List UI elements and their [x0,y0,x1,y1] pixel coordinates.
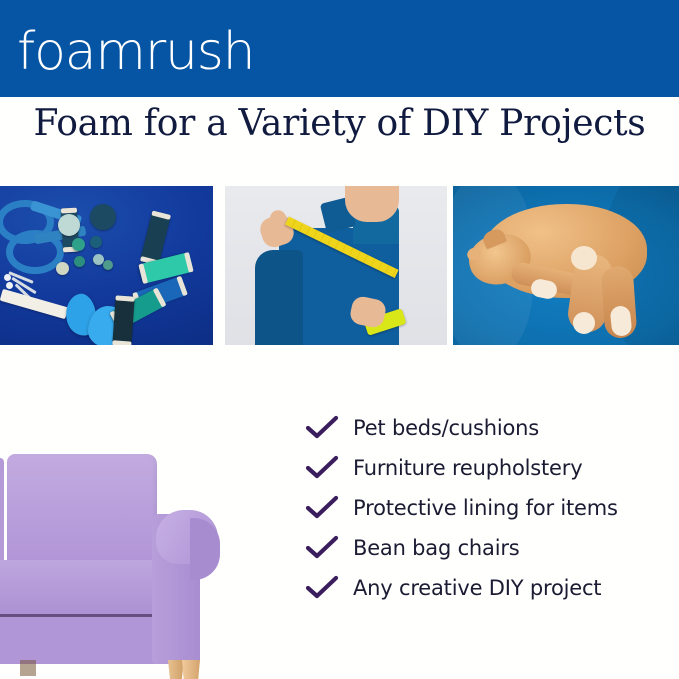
sewing-supplies-photo [0,186,213,345]
check-icon [305,535,339,561]
list-item-label: Any creative DIY project [353,576,601,600]
list-item: Any creative DIY project [305,568,679,608]
photo-strip [0,186,679,345]
sofa-illustration [0,448,265,679]
list-item-label: Protective lining for items [353,496,618,520]
check-icon [305,415,339,441]
cat-on-cushion-photo [453,186,679,345]
check-icon [305,495,339,521]
check-icon [305,455,339,481]
check-icon [305,575,339,601]
list-item-label: Pet beds/cushions [353,416,539,440]
benefits-list: Pet beds/cushions Furniture reupholstery… [305,408,679,608]
tape-measure-photo [225,186,447,345]
list-item-label: Bean bag chairs [353,536,520,560]
list-item-label: Furniture reupholstery [353,456,582,480]
page-title: Foam for a Variety of DIY Projects [0,103,679,144]
list-item: Furniture reupholstery [305,448,679,488]
brand-logo: foamrush [17,22,254,82]
product-feature-banner: foamrush Foam for a Variety of DIY Proje… [0,0,679,679]
header-banner: foamrush [0,0,679,97]
list-item: Protective lining for items [305,488,679,528]
list-item: Pet beds/cushions [305,408,679,448]
list-item: Bean bag chairs [305,528,679,568]
